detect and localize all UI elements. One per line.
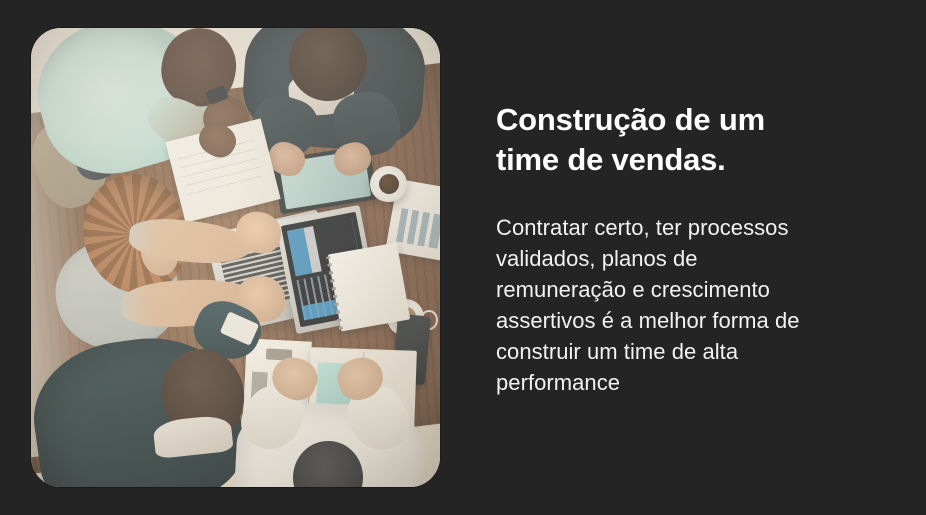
- photo-scene: [31, 28, 440, 487]
- slide-root: Construção de um time de vendas. Contrat…: [0, 0, 926, 515]
- hero-photo: [31, 28, 440, 487]
- body-paragraph: Contratar certo, ter processos validados…: [496, 180, 888, 398]
- page-title: Construção de um time de vendas.: [496, 100, 888, 180]
- spiral-notepad: [327, 243, 409, 332]
- text-column: Construção de um time de vendas. Contrat…: [496, 100, 888, 398]
